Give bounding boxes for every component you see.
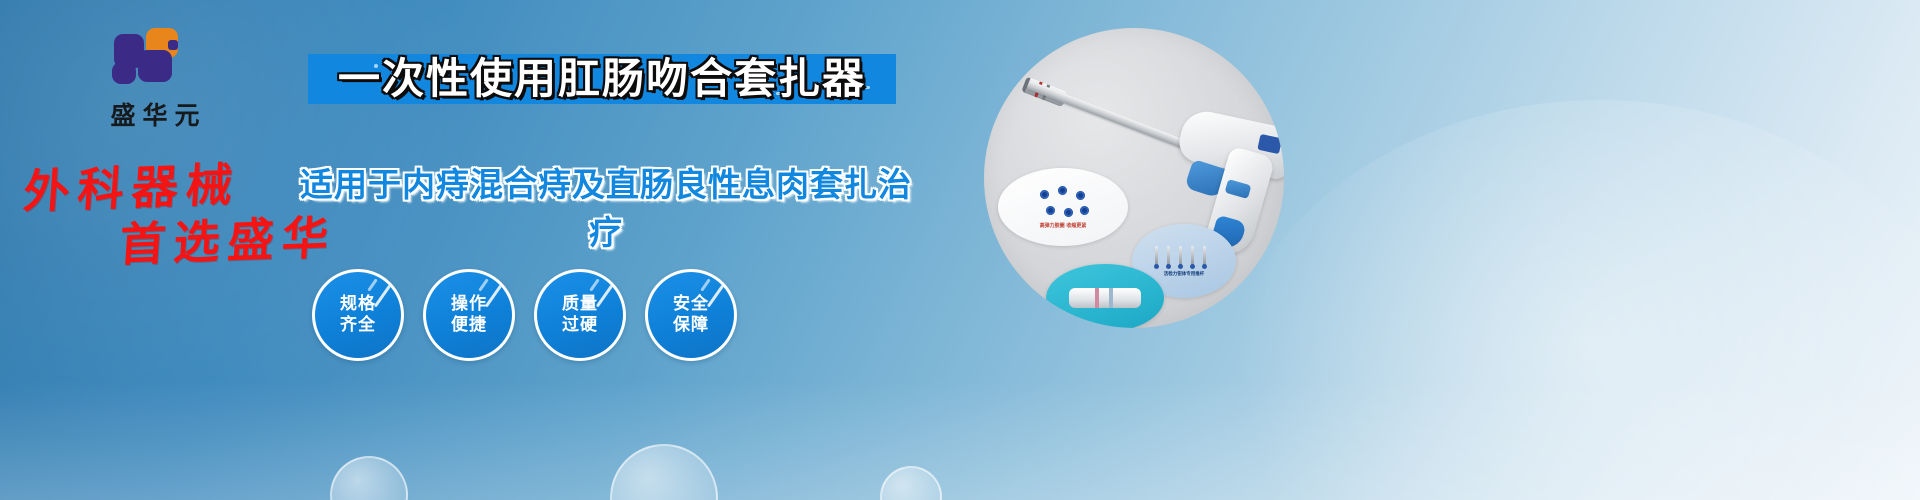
needle-row-icon <box>1151 246 1217 268</box>
feature-badge-4-line2: 保障 <box>673 315 709 336</box>
page-title: 一次性使用肛肠吻合套扎器 <box>308 51 896 107</box>
slash-icon <box>589 278 599 291</box>
feature-badge-2-line2: 便捷 <box>451 315 487 336</box>
slash-icon <box>367 278 377 291</box>
bubble-decoration <box>330 456 408 500</box>
inset-rings: 高弹力胶圈 收缩更紧 <box>998 168 1128 246</box>
inset-needles-caption: 活检力钳体专用推杆 <box>1164 271 1205 277</box>
feature-badge-2-line1: 操作 <box>451 294 487 315</box>
feature-badge-1-line2: 齐全 <box>340 315 376 336</box>
bubble-decoration <box>610 444 718 500</box>
feature-badge-3[interactable]: 质量 过硬 <box>534 269 626 361</box>
tube-icon <box>1069 288 1141 308</box>
brand-logo[interactable]: 盛华元 <box>60 28 250 132</box>
feature-badge-1-line1: 规格 <box>340 294 376 315</box>
logo-square-purple-3 <box>112 62 136 84</box>
page-subtitle: 适用于内痔混合痔及直肠良性息肉套扎治疗 <box>296 158 916 254</box>
feature-badge-4-line1: 安全 <box>673 294 709 315</box>
background-glow-right <box>1220 100 1920 500</box>
slash-icon <box>596 284 613 307</box>
logo-mark-icon <box>112 28 198 90</box>
ring-dots-icon <box>1036 186 1090 220</box>
brand-name: 盛华元 <box>60 96 250 132</box>
feature-badge-list: 规格 齐全 操作 便捷 质量 过硬 安全 保障 <box>312 269 842 361</box>
bottom-fade <box>0 380 1920 500</box>
slash-icon <box>478 278 488 291</box>
inset-rings-caption: 高弹力胶圈 收缩更紧 <box>1040 222 1087 229</box>
feature-badge-1[interactable]: 规格 齐全 <box>312 269 404 361</box>
logo-square-purple-2 <box>138 50 172 82</box>
logo-square-purple-4 <box>168 40 178 50</box>
slash-icon <box>707 284 724 307</box>
feature-badge-3-line2: 过硬 <box>562 315 598 336</box>
slash-icon <box>700 278 710 291</box>
slash-icon <box>374 284 391 307</box>
bubble-decoration <box>880 466 942 500</box>
feature-badge-3-line1: 质量 <box>562 294 598 315</box>
feature-badge-2[interactable]: 操作 便捷 <box>423 269 515 361</box>
product-photo[interactable]: 高弹力胶圈 收缩更紧 活检力钳体专用推杆 <box>984 28 1284 328</box>
device-keypad-icon <box>1257 134 1282 154</box>
feature-badge-4[interactable]: 安全 保障 <box>645 269 737 361</box>
device-shaft <box>1026 80 1197 153</box>
slash-icon <box>485 284 502 307</box>
inset-tube <box>1046 264 1164 328</box>
